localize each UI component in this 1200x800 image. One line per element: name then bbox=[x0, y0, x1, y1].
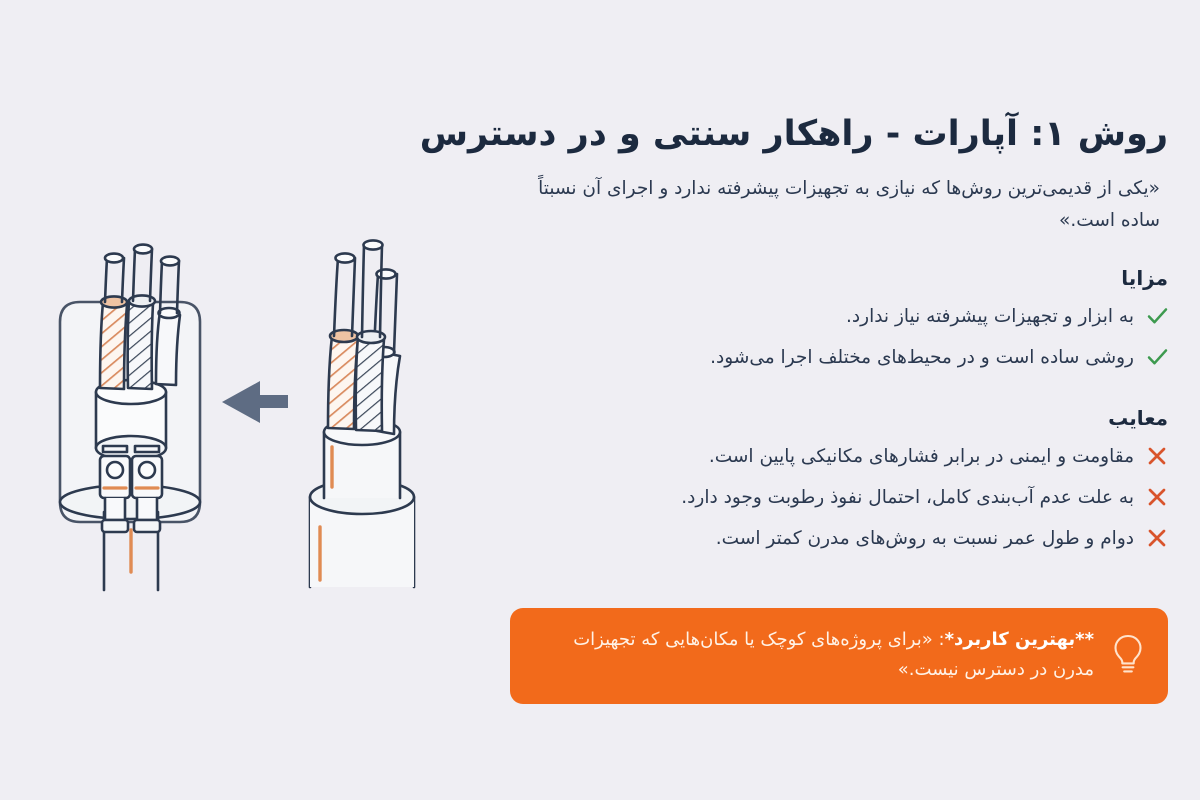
cross-icon bbox=[1146, 484, 1168, 510]
infographic-slide: روش ۱: آپارات - راهکار سنتی و در دسترس «… bbox=[0, 0, 1200, 800]
cons-heading: معایب bbox=[510, 406, 1168, 430]
cons-item-text: به علت عدم آب‌بندی کامل، احتمال نفوذ رطو… bbox=[510, 483, 1134, 513]
list-item: روشی ساده است و در محیط‌های مختلف اجرا م… bbox=[510, 337, 1168, 378]
pros-item-text: روشی ساده است و در محیط‌های مختلف اجرا م… bbox=[510, 343, 1134, 373]
cross-icon bbox=[1146, 443, 1168, 469]
spliced-cable-in-connector-housing bbox=[60, 245, 200, 590]
cons-list: مقاومت و ایمنی در برابر فشارهای مکانیکی … bbox=[510, 436, 1168, 559]
list-item: به علت عدم آب‌بندی کامل، احتمال نفوذ رطو… bbox=[510, 477, 1168, 518]
list-item: به ابزار و تجهیزات پیشرفته نیاز ندارد. bbox=[510, 296, 1168, 337]
check-icon bbox=[1146, 303, 1168, 329]
page-title: روش ۱: آپارات - راهکار سنتی و در دسترس bbox=[510, 112, 1168, 157]
list-item: مقاومت و ایمنی در برابر فشارهای مکانیکی … bbox=[510, 436, 1168, 477]
pros-heading: مزایا bbox=[510, 266, 1168, 290]
check-icon bbox=[1146, 344, 1168, 370]
cross-icon bbox=[1146, 525, 1168, 551]
pros-item-text: به ابزار و تجهیزات پیشرفته نیاز ندارد. bbox=[510, 302, 1134, 332]
pros-list: به ابزار و تجهیزات پیشرفته نیاز ندارد. ر… bbox=[510, 296, 1168, 378]
callout-label: **بهترین کاربرد* bbox=[945, 629, 1094, 650]
stripped-cable-end bbox=[310, 240, 414, 587]
lightbulb-icon bbox=[1108, 633, 1148, 677]
list-item: دوام و طول عمر نسبت به روش‌های مدرن کمتر… bbox=[510, 518, 1168, 559]
cons-item-text: مقاومت و ایمنی در برابر فشارهای مکانیکی … bbox=[510, 442, 1134, 472]
page-subtitle: «یکی از قدیمی‌ترین روش‌ها که نیازی به تج… bbox=[510, 173, 1160, 237]
callout-text: **بهترین کاربرد*: «برای پروژه‌های کوچک ی… bbox=[532, 625, 1094, 685]
content-panel: روش ۱: آپارات - راهکار سنتی و در دسترس «… bbox=[500, 0, 1200, 800]
best-use-callout: **بهترین کاربرد*: «برای پروژه‌های کوچک ی… bbox=[510, 608, 1168, 704]
cons-item-text: دوام و طول عمر نسبت به روش‌های مدرن کمتر… bbox=[510, 524, 1134, 554]
left-arrow bbox=[222, 381, 288, 423]
